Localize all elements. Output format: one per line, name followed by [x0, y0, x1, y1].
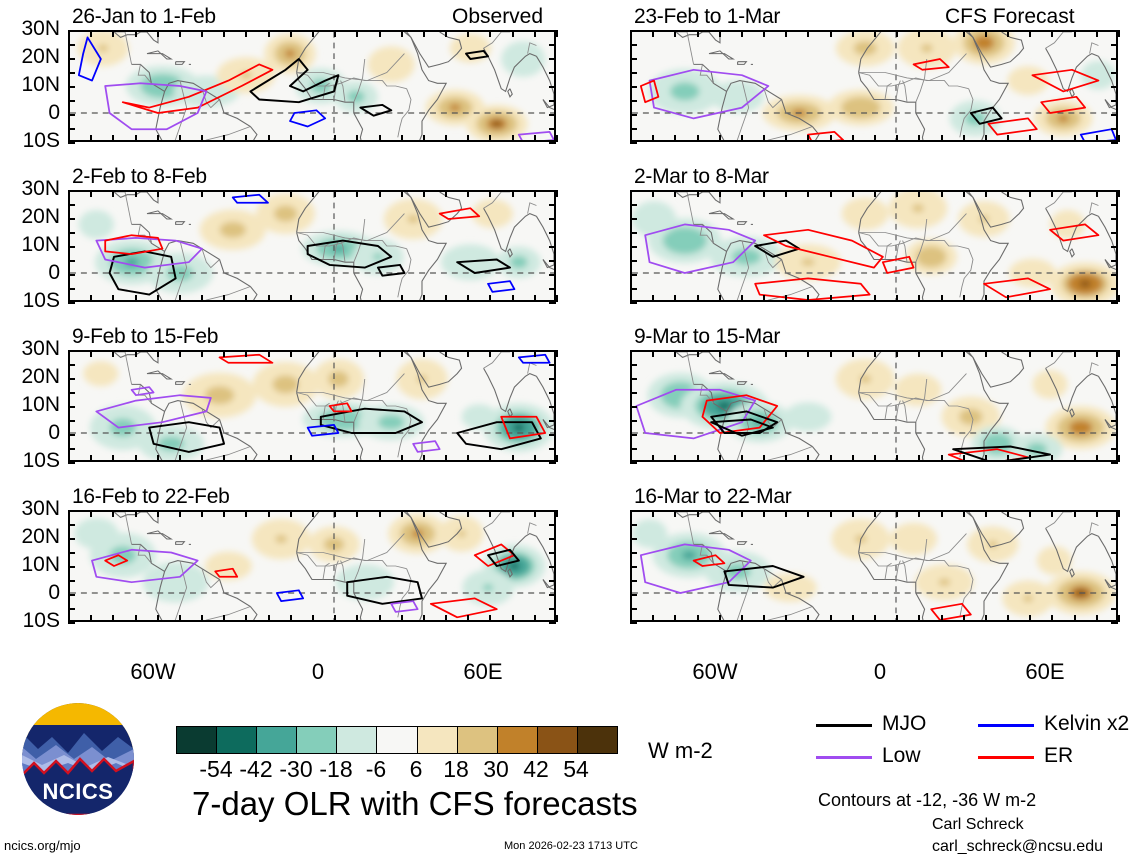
xtick [918, 135, 920, 142]
xtick [268, 350, 270, 357]
xtick [941, 455, 943, 462]
xtick [512, 615, 514, 622]
xtick [1074, 135, 1076, 142]
xtick [157, 455, 159, 462]
xtick [1029, 295, 1031, 302]
xtick [896, 190, 898, 197]
yaxis-label-row3-30N: 30N [0, 497, 60, 521]
xtick [356, 190, 358, 197]
xtick [652, 30, 654, 37]
ytick [549, 566, 556, 568]
ytick [630, 350, 637, 352]
xtick [674, 615, 676, 622]
xtick [401, 615, 403, 622]
xtick [356, 510, 358, 517]
xtick [201, 455, 203, 462]
xtick [379, 350, 381, 357]
ytick [630, 274, 637, 276]
ytick [630, 100, 637, 102]
xtick [941, 295, 943, 302]
colorbar-tick-labels: -54-42-30-18-6618304254 [176, 756, 616, 784]
xtick [985, 350, 987, 357]
xtick [179, 455, 181, 462]
xtick [379, 615, 381, 622]
legend-line-kelvin [978, 724, 1034, 727]
xtick [719, 30, 721, 37]
xtick [874, 350, 876, 357]
xtick [467, 135, 469, 142]
ytick [549, 510, 556, 512]
xtick [290, 350, 292, 357]
xtick [1007, 615, 1009, 622]
ytick [1111, 288, 1118, 290]
xtick [830, 135, 832, 142]
xtick [807, 350, 809, 357]
ytick [1111, 260, 1118, 262]
xtick [245, 30, 247, 37]
xtick [852, 135, 854, 142]
xtick [1074, 350, 1076, 357]
map-panel-6[interactable] [630, 350, 1118, 462]
xtick [741, 190, 743, 197]
ytick [630, 232, 637, 234]
xtick [830, 350, 832, 357]
ytick [1111, 246, 1118, 248]
xtick [741, 615, 743, 622]
xtick [674, 190, 676, 197]
xtick [918, 350, 920, 357]
ytick [630, 302, 637, 304]
xtick [245, 615, 247, 622]
xtick [652, 615, 654, 622]
ytick [630, 218, 637, 220]
xtick [68, 135, 70, 142]
ytick [630, 434, 637, 436]
xtick [941, 510, 943, 517]
xtick [512, 350, 514, 357]
colorbar-swatch-10 [578, 727, 617, 753]
xtick [290, 135, 292, 142]
yaxis-label-row2-30N: 30N [0, 337, 60, 361]
xtick [1051, 455, 1053, 462]
xtick [785, 135, 787, 142]
ytick [630, 44, 637, 46]
xtick [245, 510, 247, 517]
xtick [157, 510, 159, 517]
xtick [312, 455, 314, 462]
ytick [1111, 510, 1118, 512]
ytick [68, 524, 75, 526]
yaxis-label-row1-30N: 30N [0, 177, 60, 201]
panel-title-2: 9-Feb to 15-Feb [72, 325, 218, 349]
map-panel-7[interactable] [630, 510, 1118, 622]
xtick [90, 190, 92, 197]
contour-note: Contours at -12, -36 W m-2 [818, 790, 1036, 811]
ytick [68, 608, 75, 610]
xtick [223, 510, 225, 517]
xtick [467, 455, 469, 462]
ytick [1111, 190, 1118, 192]
xtick [135, 135, 137, 142]
xtick [785, 510, 787, 517]
xtick [896, 615, 898, 622]
xtick [312, 135, 314, 142]
yaxis-label-row1-10N: 10N [0, 233, 60, 257]
xtick [179, 615, 181, 622]
map-panel-5[interactable] [630, 190, 1118, 302]
ytick [1111, 128, 1118, 130]
xtick [741, 510, 743, 517]
xtick [807, 135, 809, 142]
ytick [630, 246, 637, 248]
xtick [401, 135, 403, 142]
ytick [1111, 406, 1118, 408]
xtick [556, 455, 558, 462]
xtick [90, 295, 92, 302]
ytick [549, 246, 556, 248]
xtick [763, 295, 765, 302]
xaxis-label-left-60w: 60W [108, 659, 198, 685]
xtick [445, 30, 447, 37]
xaxis-label-right-0: 0 [845, 659, 915, 685]
xtick [534, 455, 536, 462]
ytick [68, 594, 75, 596]
xtick [1118, 295, 1120, 302]
yaxis-label-row3-20N: 20N [0, 525, 60, 549]
xtick [489, 295, 491, 302]
ytick [1111, 302, 1118, 304]
ytick [549, 524, 556, 526]
xtick [1029, 190, 1031, 197]
yaxis-label-row3-0: 0 [0, 581, 60, 605]
xtick [467, 615, 469, 622]
xtick [201, 295, 203, 302]
xtick [741, 135, 743, 142]
colorbar-swatch-2 [257, 727, 297, 753]
xtick [356, 615, 358, 622]
author-name: Carl Schreck [932, 816, 1024, 834]
xtick [135, 295, 137, 302]
xtick [697, 295, 699, 302]
xtick [112, 30, 114, 37]
xtick [652, 510, 654, 517]
xtick [719, 510, 721, 517]
xtick [652, 295, 654, 302]
xtick [379, 190, 381, 197]
xtick [334, 135, 336, 142]
xtick [268, 455, 270, 462]
xtick [807, 615, 809, 622]
xtick [312, 510, 314, 517]
xtick [268, 30, 270, 37]
xtick [534, 615, 536, 622]
ytick [68, 350, 75, 352]
xtick [312, 295, 314, 302]
xtick [807, 30, 809, 37]
xtick [807, 190, 809, 197]
xtick [985, 510, 987, 517]
xtick [401, 190, 403, 197]
xtick [719, 190, 721, 197]
xtick [489, 135, 491, 142]
colorbar-swatch-8 [498, 727, 538, 753]
xtick [652, 350, 654, 357]
xtick [68, 295, 70, 302]
ytick [1111, 524, 1118, 526]
xtick [334, 295, 336, 302]
ytick [630, 594, 637, 596]
ytick [549, 58, 556, 60]
xtick [807, 510, 809, 517]
xtick [941, 190, 943, 197]
ytick [1111, 232, 1118, 234]
xtick [556, 295, 558, 302]
ytick [68, 260, 75, 262]
ytick [549, 100, 556, 102]
xtick [223, 350, 225, 357]
xtick [1029, 350, 1031, 357]
xtick [918, 510, 920, 517]
xtick [807, 295, 809, 302]
xtick [201, 510, 203, 517]
xtick [179, 295, 181, 302]
xtick [157, 295, 159, 302]
xtick [201, 30, 203, 37]
xtick [379, 135, 381, 142]
yaxis-label-row2-20N: 20N [0, 365, 60, 389]
panel-title-6: 9-Mar to 15-Mar [634, 325, 780, 349]
xtick [135, 615, 137, 622]
xtick [741, 30, 743, 37]
xtick [445, 455, 447, 462]
map-panel-1[interactable] [68, 190, 556, 302]
xtick [489, 30, 491, 37]
ytick [630, 622, 637, 624]
xtick [445, 510, 447, 517]
xtick [401, 455, 403, 462]
yaxis-label-row0-30N: 30N [0, 17, 60, 41]
xtick [963, 350, 965, 357]
xtick [467, 30, 469, 37]
xtick [534, 510, 536, 517]
ytick [549, 552, 556, 554]
ytick [68, 72, 75, 74]
xtick [268, 510, 270, 517]
xtick [852, 510, 854, 517]
ytick [1111, 608, 1118, 610]
xtick [941, 350, 943, 357]
ytick [549, 190, 556, 192]
xtick [830, 190, 832, 197]
ytick [1111, 30, 1118, 32]
xtick [918, 30, 920, 37]
xtick [201, 350, 203, 357]
xtick [556, 615, 558, 622]
ytick [68, 538, 75, 540]
xtick [1096, 135, 1098, 142]
yaxis-label-row3-10S: 10S [0, 609, 60, 633]
xaxis-label-left-0: 0 [283, 659, 353, 685]
map-panel-0[interactable] [68, 30, 556, 142]
xtick [674, 350, 676, 357]
xtick [785, 455, 787, 462]
xtick [918, 455, 920, 462]
colorbar-tick-54: 54 [563, 756, 589, 783]
ytick [630, 608, 637, 610]
xtick [379, 295, 381, 302]
xaxis-label-left-60e: 60E [438, 659, 528, 685]
xtick [697, 135, 699, 142]
xtick [556, 350, 558, 357]
xtick [512, 455, 514, 462]
xtick [179, 350, 181, 357]
xtick [245, 350, 247, 357]
xtick [223, 295, 225, 302]
ytick [630, 204, 637, 206]
xtick [379, 510, 381, 517]
ytick [1111, 58, 1118, 60]
map-panel-2[interactable] [68, 350, 556, 462]
ytick [1111, 44, 1118, 46]
xtick [401, 350, 403, 357]
xtick [763, 350, 765, 357]
colorbar-tick--42: -42 [239, 756, 272, 783]
xtick [1096, 295, 1098, 302]
xtick [135, 455, 137, 462]
ytick [68, 274, 75, 276]
legend-label-low: Low [882, 744, 921, 768]
xtick [852, 350, 854, 357]
xtick [135, 190, 137, 197]
ytick [68, 190, 75, 192]
xtick [223, 190, 225, 197]
xtick [852, 295, 854, 302]
xtick [652, 455, 654, 462]
xtick [785, 615, 787, 622]
map-panel-4[interactable] [630, 30, 1118, 142]
ytick [68, 302, 75, 304]
ytick [549, 434, 556, 436]
ytick [549, 608, 556, 610]
colorbar-swatch-3 [297, 727, 337, 753]
ytick [630, 392, 637, 394]
xtick [941, 30, 943, 37]
xtick [356, 30, 358, 37]
xtick [830, 295, 832, 302]
xtick [467, 295, 469, 302]
xtick [674, 30, 676, 37]
xtick [467, 510, 469, 517]
ytick [549, 128, 556, 130]
xtick [896, 135, 898, 142]
ytick [630, 462, 637, 464]
ytick [68, 364, 75, 366]
xtick [135, 350, 137, 357]
xtick [445, 135, 447, 142]
xtick [985, 615, 987, 622]
xtick [401, 295, 403, 302]
xtick [1051, 190, 1053, 197]
colorbar-tick-18: 18 [443, 756, 469, 783]
xtick [157, 30, 159, 37]
xtick [489, 350, 491, 357]
xtick [290, 615, 292, 622]
xtick [312, 350, 314, 357]
xtick [807, 455, 809, 462]
xtick [630, 615, 632, 622]
ytick [549, 622, 556, 624]
ytick [630, 288, 637, 290]
xtick [1051, 30, 1053, 37]
xtick [157, 615, 159, 622]
ytick [68, 552, 75, 554]
xtick [245, 455, 247, 462]
xtick [874, 615, 876, 622]
xtick [1074, 190, 1076, 197]
yaxis-label-row0-0: 0 [0, 101, 60, 125]
ytick [549, 260, 556, 262]
colorbar-tick-42: 42 [523, 756, 549, 783]
ncics-logo: NCICS [22, 703, 134, 815]
figure-title: 7-day OLR with CFS forecasts [192, 785, 638, 823]
ytick [68, 622, 75, 624]
xtick [830, 30, 832, 37]
xtick [423, 510, 425, 517]
ytick [549, 218, 556, 220]
ytick [549, 302, 556, 304]
xtick [763, 190, 765, 197]
xtick [785, 30, 787, 37]
ytick [549, 420, 556, 422]
yaxis-label-row3-10N: 10N [0, 553, 60, 577]
xtick [423, 30, 425, 37]
xtick [630, 455, 632, 462]
colorbar-swatch-7 [458, 727, 498, 753]
xtick [245, 190, 247, 197]
xtick [1118, 190, 1120, 197]
ytick [1111, 350, 1118, 352]
panel-title-3: 16-Feb to 22-Feb [72, 485, 229, 509]
xtick [1029, 455, 1031, 462]
xtick [1096, 615, 1098, 622]
xtick [763, 615, 765, 622]
ytick [549, 594, 556, 596]
xtick [179, 190, 181, 197]
xtick [445, 615, 447, 622]
column-header-cfs-forecast: CFS Forecast [945, 5, 1075, 29]
colorbar-tick-6: 6 [410, 756, 423, 783]
xtick [918, 190, 920, 197]
ytick [549, 350, 556, 352]
ytick [630, 128, 637, 130]
ytick [68, 420, 75, 422]
xtick [985, 30, 987, 37]
xtick [985, 455, 987, 462]
colorbar-swatch-9 [538, 727, 578, 753]
xtick [852, 30, 854, 37]
yaxis-label-row0-10N: 10N [0, 73, 60, 97]
xtick [512, 295, 514, 302]
xtick [830, 615, 832, 622]
svg-text:NCICS: NCICS [43, 779, 114, 804]
map-panel-3[interactable] [68, 510, 556, 622]
xtick [963, 455, 965, 462]
xtick [941, 615, 943, 622]
colorbar-tick--30: -30 [279, 756, 312, 783]
xtick [963, 615, 965, 622]
ytick [1111, 538, 1118, 540]
xtick [334, 615, 336, 622]
